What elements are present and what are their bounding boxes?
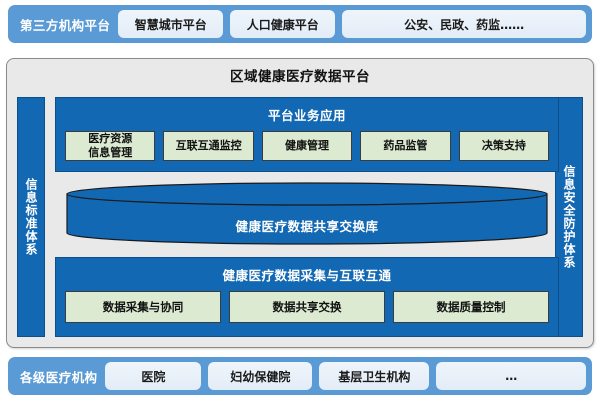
platform-business-applications-section: 平台业务应用 医疗资源 信息管理 互联互通监控 健康管理 药品监管 决策支持: [55, 97, 559, 172]
third-party-platform-bar: 第三方机构平台 智慧城市平台 人口健康平台 公安、民政、药监……: [8, 5, 592, 43]
box-data-collection-collaboration[interactable]: 数据采集与协同: [65, 291, 221, 323]
third-party-platform-label: 第三方机构平台: [14, 15, 118, 34]
information-security-system-label: 信息安全防护体系: [563, 165, 575, 269]
chip-smart-city-platform[interactable]: 智慧城市平台: [118, 10, 223, 38]
information-standard-system-label: 信息标准体系: [25, 178, 37, 256]
chip-other-agencies[interactable]: 公安、民政、药监……: [342, 10, 586, 38]
box-health-management[interactable]: 健康管理: [262, 131, 352, 161]
box-interconnection-monitoring[interactable]: 互联互通监控: [163, 131, 253, 161]
information-standard-system-rail: 信息标准体系: [17, 97, 45, 337]
data-collection-interconnection-section: 健康医疗数据采集与互联互通 数据采集与协同 数据共享交换 数据质量控制: [55, 257, 559, 337]
medical-institutions-label: 各级医疗机构: [14, 367, 105, 386]
information-security-system-rail: 信息安全防护体系: [555, 97, 583, 337]
platform-title: 区域健康医疗数据平台: [7, 65, 593, 85]
regional-health-data-platform-panel: 区域健康医疗数据平台 信息标准体系 信息安全防护体系 平台业务应用 医疗资源 信…: [6, 58, 594, 348]
third-party-platform-items: 智慧城市平台 人口健康平台 公安、民政、药监……: [118, 10, 586, 38]
data-collection-boxes: 数据采集与协同 数据共享交换 数据质量控制: [56, 284, 558, 332]
data-collection-interconnection-title: 健康医疗数据采集与互联互通: [56, 258, 558, 284]
chip-more-institutions[interactable]: …: [436, 362, 586, 390]
chip-maternal-child-health-hospital[interactable]: 妇幼保健院: [208, 362, 312, 390]
platform-business-applications-boxes: 医疗资源 信息管理 互联互通监控 健康管理 药品监管 决策支持: [56, 124, 558, 170]
medical-institutions-items: 医院 妇幼保健院 基层卫生机构 …: [105, 362, 586, 390]
box-data-sharing-exchange[interactable]: 数据共享交换: [229, 291, 385, 323]
box-drug-supervision[interactable]: 药品监管: [360, 131, 450, 161]
medical-institutions-bar: 各级医疗机构 医院 妇幼保健院 基层卫生机构 …: [8, 357, 592, 395]
box-medical-resource-info-management[interactable]: 医疗资源 信息管理: [65, 131, 155, 161]
chip-primary-health-institution[interactable]: 基层卫生机构: [319, 362, 429, 390]
box-decision-support[interactable]: 决策支持: [459, 131, 549, 161]
chip-hospital[interactable]: 医院: [105, 362, 201, 390]
data-exchange-database-cylinder: 健康医疗数据共享交换库: [65, 180, 549, 247]
chip-population-health-platform[interactable]: 人口健康平台: [230, 10, 335, 38]
platform-business-applications-title: 平台业务应用: [56, 98, 558, 124]
cylinder-shape: [65, 180, 549, 247]
architecture-diagram: 第三方机构平台 智慧城市平台 人口健康平台 公安、民政、药监…… 区域健康医疗数…: [0, 0, 600, 400]
box-data-quality-control[interactable]: 数据质量控制: [393, 291, 549, 323]
